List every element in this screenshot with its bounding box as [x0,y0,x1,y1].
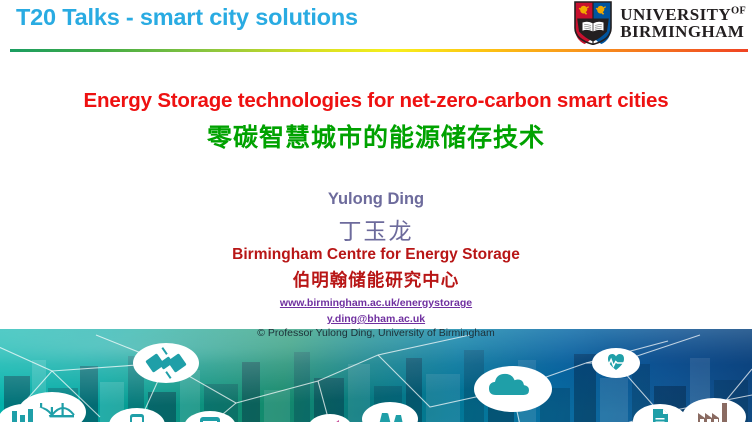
presentation-slide: T20 Talks - smart city solutions [0,0,752,422]
email-link[interactable]: y.ding@bham.ac.uk [327,313,425,325]
header-gradient-divider [10,49,748,52]
network-overlay [0,329,752,422]
cloud-icon [474,366,552,412]
heartbeat-icon [592,348,640,378]
affiliation-english: Birmingham Centre for Energy Storage [0,246,752,264]
author-name-chinese: 丁玉龙 [0,212,752,246]
wordmark-line-university: UNIVERSITYOF [620,6,746,23]
document-icon [633,404,687,422]
university-logo-lockup: UNIVERSITYOF BIRMINGHAM [574,1,746,45]
university-of-birmingham-crest-icon [574,1,612,45]
power-plant-icon [362,402,418,422]
factory-icon [682,398,746,422]
university-wordmark: UNIVERSITYOF BIRMINGHAM [620,6,746,40]
slide-kicker-title: T20 Talks - smart city solutions [16,4,358,31]
copyright-notice: © Professor Yulong Ding, University of B… [0,327,752,339]
wordmark-of-superscript: OF [731,5,746,16]
website-link[interactable]: www.birmingham.ac.uk/energystorage [280,297,472,309]
mobile-phone-icon [109,408,165,422]
chat-bubble-icon [184,411,236,422]
smart-city-image-band [0,329,752,422]
presentation-title-english: Energy Storage technologies for net-zero… [0,89,752,113]
affiliation-chinese: 伯明翰储能研究中心 [0,267,752,292]
slide-header: T20 Talks - smart city solutions [0,0,752,49]
satellite-icon [133,343,199,383]
email-link-row: y.ding@bham.ac.uk [0,309,752,327]
author-name-english: Yulong Ding [0,190,752,209]
wordmark-line-birmingham: BIRMINGHAM [620,23,746,40]
presentation-title-chinese: 零碳智慧城市的能源储存技术 [0,118,752,154]
signal-icon [308,414,352,422]
